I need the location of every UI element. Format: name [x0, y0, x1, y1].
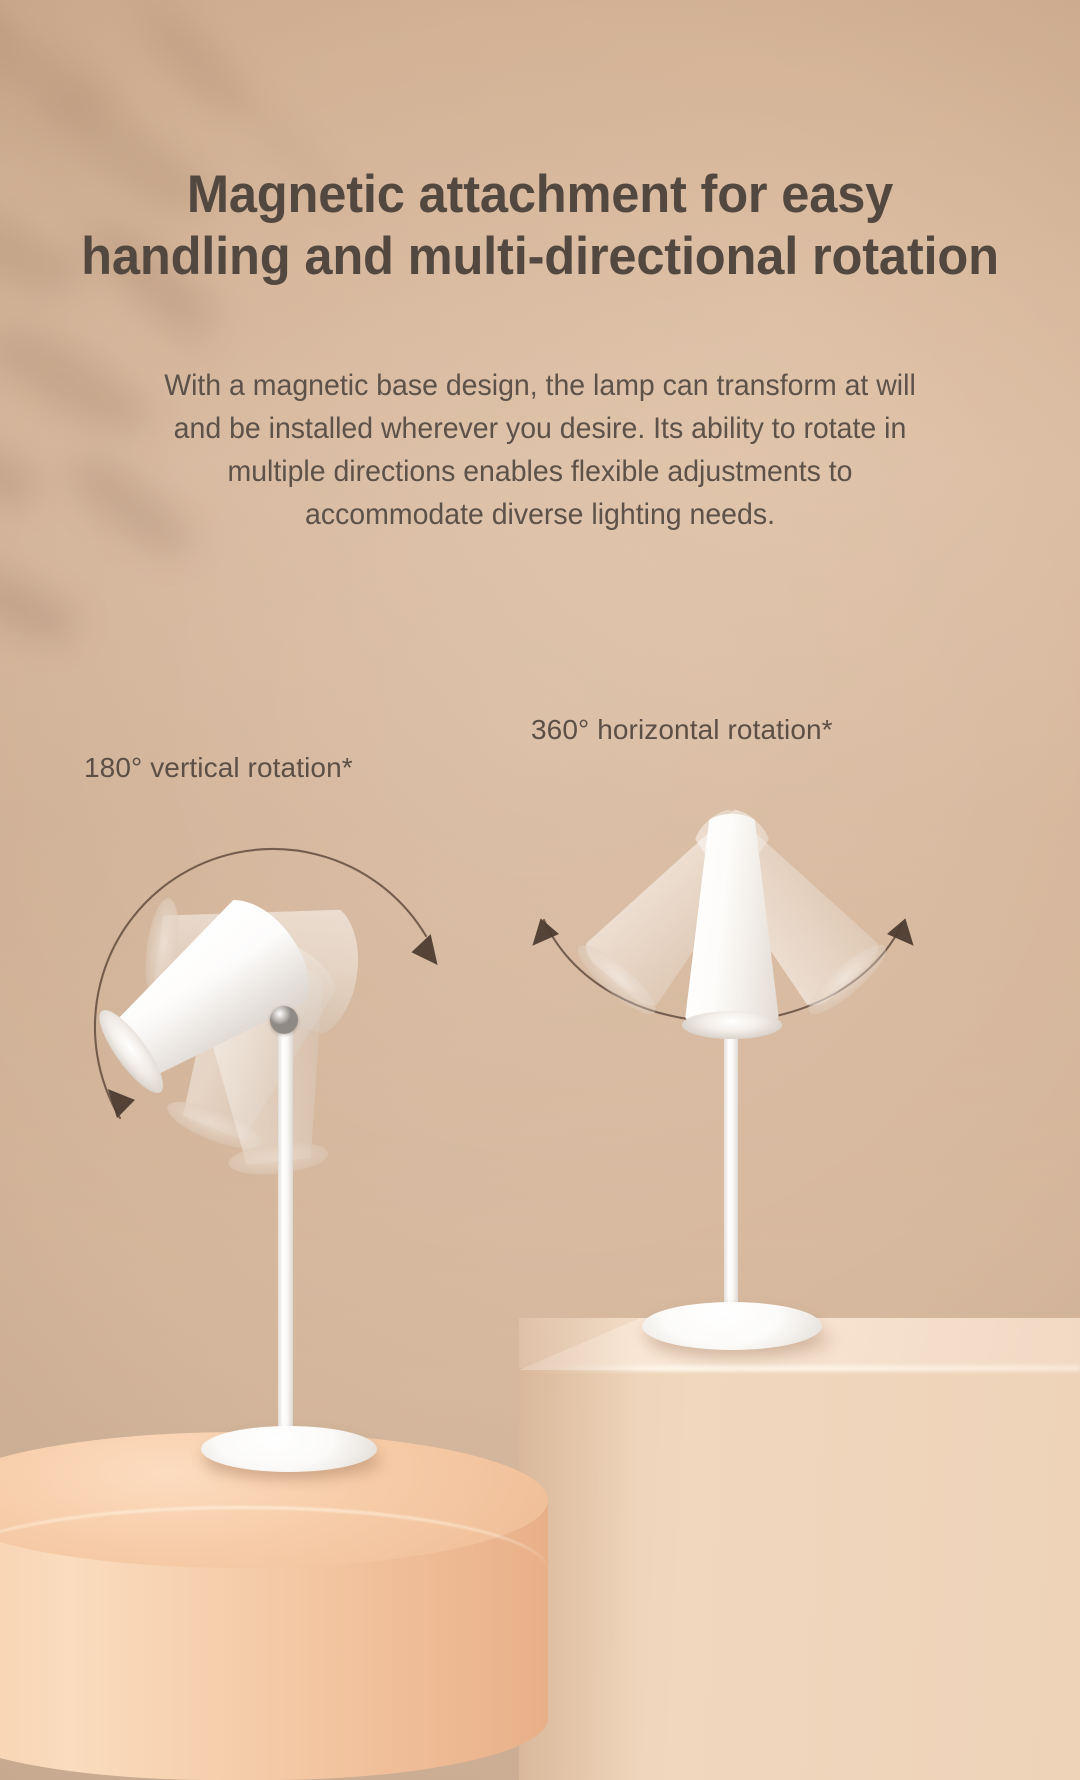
headline-block: Magnetic attachment for easy handling an…: [0, 164, 1080, 288]
lamp-stem: [724, 1006, 738, 1324]
lamp-shade-opening: [682, 1011, 782, 1039]
headline-line-2: handling and multi-directional: [81, 227, 798, 286]
description-line-4: accommodate diverse lighting needs.: [61, 493, 1018, 536]
description-block: With a magnetic base design, the lamp ca…: [0, 364, 1080, 536]
headline-line-1: Magnetic attachment for easy: [187, 165, 893, 224]
horizontal-rotation-label: 360° horizontal rotation*: [531, 714, 833, 746]
description-line-1: With a magnetic base design, the lamp ca…: [61, 364, 1018, 407]
lamp-horizontal-rotation: [556, 790, 976, 1400]
description-line-3: multiple directions enables flexible adj…: [61, 450, 1018, 493]
lamp-stem: [278, 1020, 293, 1452]
description-text: With a magnetic base design, the lamp ca…: [19, 364, 1061, 536]
lamp-head: [684, 814, 780, 1028]
vertical-rotation-label: 180° vertical rotation*: [84, 752, 353, 784]
page-title: Magnetic attachment for easy handling an…: [24, 164, 1055, 288]
lamp-vertical-rotation: [92, 860, 452, 1520]
product-feature-page: Magnetic attachment for easy handling an…: [0, 0, 1080, 1780]
description-line-2: and be installed wherever you desire. It…: [61, 407, 1018, 450]
lamp-base: [642, 1302, 822, 1350]
magnetic-ball-joint: [270, 1006, 298, 1034]
headline-line-3: rotation: [812, 227, 999, 286]
lamp-shade: [684, 814, 780, 1028]
lamp-base: [201, 1426, 377, 1472]
